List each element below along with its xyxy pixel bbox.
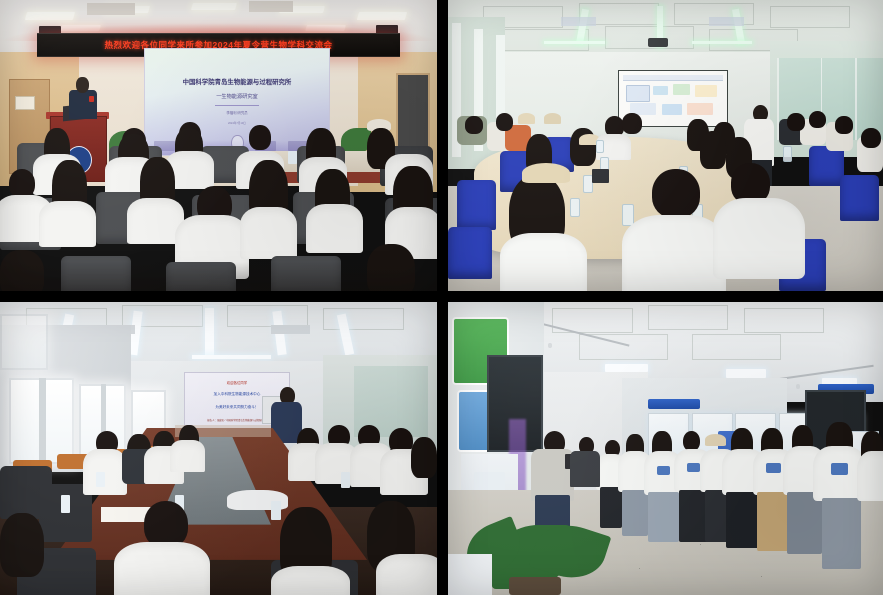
photo-panel-dark-table-conference-room: 欢迎各位同学 加入中科院生物能源技术中心 为美好未来共同努力奋斗！ 报告人：张建… [0, 302, 437, 595]
plant-pot [509, 577, 561, 595]
student-trousers [822, 498, 861, 568]
student-trousers [622, 490, 648, 537]
water-bottle [783, 146, 792, 163]
wall-notice [15, 96, 34, 110]
speaker-badge [89, 96, 95, 102]
water-bottle [271, 501, 281, 520]
slide-subtitle: 一生物能源研究室 [145, 93, 329, 100]
blue-chair [448, 227, 492, 279]
person-hair [700, 131, 726, 169]
student-cap [705, 434, 727, 446]
projection-screen: 中国科学院青岛生物能源与过程研究所 一生物能源研究室 李福利 研究员 2024年… [144, 48, 330, 156]
meeting-room-scene [448, 0, 883, 291]
ceiling-light [25, 12, 75, 20]
person-shirt [170, 440, 205, 472]
water-bottle [96, 472, 105, 487]
student-logo [657, 466, 670, 475]
ceiling-tile [323, 308, 404, 331]
ceiling-vent [561, 17, 596, 26]
conference-room-scene: 欢迎各位同学 加入中科院生物能源技术中心 为美好未来共同努力奋斗！ 报告人：张建… [0, 302, 437, 595]
student-skirt [726, 492, 761, 548]
ceiling-vent [709, 17, 744, 26]
foreground-shirt [500, 233, 587, 291]
audience-shirt [306, 204, 363, 253]
wall-sign [648, 399, 700, 409]
foreground-shirt [376, 554, 437, 595]
slide-title: 中国科学院青岛生物能源与过程研究所 [145, 77, 329, 86]
photo-panel-blue-chair-meeting-room [448, 0, 883, 291]
slide-diagram-box [626, 85, 650, 101]
blue-chair [809, 146, 844, 187]
photo-panel-exhibition-hall-tour [448, 302, 883, 595]
audience-head [249, 125, 271, 150]
person-hair [411, 437, 437, 478]
person-head [622, 113, 642, 133]
slide-header [623, 75, 723, 81]
person-cap [518, 113, 535, 123]
slide-date: 2024年7月10日 [145, 121, 329, 125]
lecture-hall-scene: 热烈欢迎各位同学来所参加2024年夏令营生物学科交流会 中国科学院青岛生物能源与… [0, 0, 437, 291]
speaker-body [69, 90, 97, 119]
person-head [465, 116, 482, 133]
glass-mullion [855, 58, 857, 139]
floor-shade [0, 262, 437, 291]
ceiling-tile [579, 334, 668, 359]
student-logo [766, 463, 781, 473]
slide-diagram-box [653, 86, 667, 95]
window-upper [0, 314, 48, 371]
audience-shirt [240, 207, 297, 259]
exhibition-hall-scene [448, 302, 883, 595]
ceiling-light [726, 369, 765, 378]
ceiling-tile [744, 308, 824, 333]
person-head [787, 113, 804, 130]
foreground-shirt [114, 542, 210, 595]
person-head [809, 111, 826, 128]
ceiling-tile [692, 334, 781, 359]
slide-line-1: 欢迎各位同学 [185, 380, 290, 385]
person-shirt [83, 449, 127, 496]
water-bottle [596, 140, 605, 154]
student-logo [831, 463, 848, 475]
spotlight [796, 384, 800, 389]
foreground-shirt [271, 566, 350, 595]
person-head [835, 116, 852, 133]
foreground-cap [522, 163, 570, 183]
ceiling-light [357, 12, 407, 20]
blue-chair [840, 175, 879, 222]
foreground-shirt [622, 215, 726, 291]
ceiling-tile [227, 305, 308, 328]
student-trousers [600, 487, 622, 528]
student-logo [687, 463, 700, 472]
ceiling-vent [249, 1, 293, 11]
slide-presenter: 李福利 研究员 [145, 110, 329, 115]
ceiling-light [191, 3, 237, 10]
foreground-hair [0, 513, 44, 577]
ceiling-light-strip [205, 308, 214, 355]
slide-diagram-box [695, 85, 717, 97]
slide-diagram-box [662, 104, 682, 115]
person-head [496, 113, 513, 130]
floor-pedestal [448, 554, 492, 595]
spotlight [548, 343, 552, 348]
ceiling-tile [770, 6, 850, 28]
ceiling-vent [87, 3, 135, 15]
thermos [592, 169, 609, 184]
student-dark-shirt [570, 451, 600, 486]
ceiling-light-strip [192, 355, 271, 359]
student-shirt [857, 451, 883, 501]
person-head [861, 128, 881, 148]
ceiling-light [605, 364, 649, 373]
foreground-head [652, 169, 700, 218]
water-bottle [622, 204, 634, 226]
water-bottle [341, 472, 350, 488]
foreground-head [144, 501, 188, 548]
slide-diagram-box [673, 84, 690, 95]
person-cap [544, 113, 561, 123]
audience-head [9, 169, 35, 198]
photo-collage: 热烈欢迎各位同学来所参加2024年夏令营生物学科交流会 中国科学院青岛生物能源与… [0, 0, 883, 595]
ceiling-light-strip [692, 41, 753, 44]
blue-chair [457, 180, 496, 229]
water-bottle [288, 151, 297, 164]
projector [648, 38, 668, 47]
student-skirt [648, 492, 678, 542]
slide-divider [215, 105, 259, 106]
water-bottle [61, 495, 70, 513]
audience-shirt [39, 201, 96, 248]
photo-panel-lecture-hall: 热烈欢迎各位同学来所参加2024年夏令营生物学科交流会 中国科学院青岛生物能源与… [0, 0, 437, 291]
ceiling-light-strip [544, 41, 605, 44]
water-bottle [570, 198, 581, 217]
ceiling-tile [648, 305, 728, 330]
ceiling-vent [271, 325, 310, 334]
window-mullion [39, 378, 46, 460]
student-trousers [787, 492, 822, 554]
slide-diagram-box [687, 103, 713, 115]
foreground-shirt [713, 198, 804, 279]
speaker-head [76, 77, 89, 93]
